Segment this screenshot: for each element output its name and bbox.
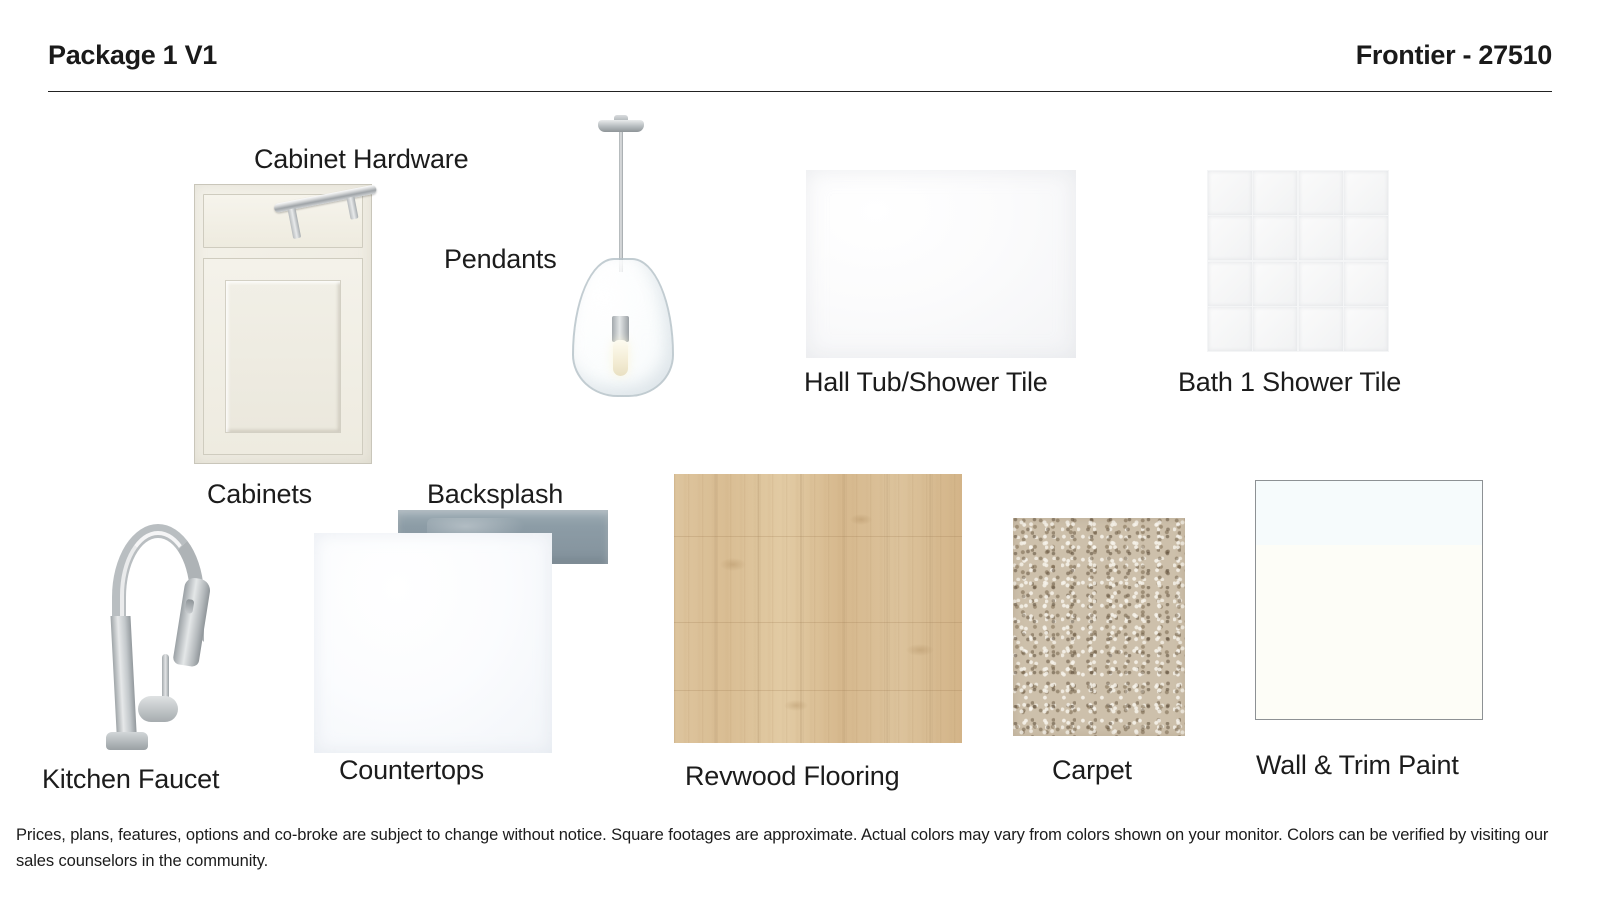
pendant-canopy xyxy=(598,120,644,132)
plank-seam xyxy=(674,622,962,623)
hall-tub-shower-tile-swatch xyxy=(806,170,1076,358)
bar-pull-post-left xyxy=(288,208,302,239)
tile-cell xyxy=(1299,216,1343,260)
wall-paint-chip xyxy=(1256,545,1482,719)
tile-cell xyxy=(1253,307,1297,351)
cabinet-door-panel xyxy=(226,281,340,432)
pendant-rod xyxy=(619,132,623,272)
plank-seam xyxy=(674,690,962,691)
page-header: Package 1 V1 Frontier - 27510 xyxy=(48,38,1552,94)
tile-cell xyxy=(1344,171,1388,215)
tile-cell xyxy=(1299,171,1343,215)
label-backsplash: Backsplash xyxy=(427,478,563,510)
label-cabinets: Cabinets xyxy=(207,478,312,510)
header-divider xyxy=(48,91,1552,92)
carpet-swatch xyxy=(1013,518,1185,736)
pendant-swatch xyxy=(566,120,676,395)
bar-pull-post-right xyxy=(347,197,359,220)
wood-knot xyxy=(906,644,934,656)
label-carpet: Carpet xyxy=(1052,754,1132,786)
tile-cell xyxy=(1299,262,1343,306)
pendant-socket xyxy=(612,316,629,342)
label-kitchen-faucet: Kitchen Faucet xyxy=(42,763,219,795)
label-wall-trim-paint: Wall & Trim Paint xyxy=(1256,749,1459,781)
wood-knot xyxy=(850,514,872,525)
label-hall-tub-shower-tile: Hall Tub/Shower Tile xyxy=(804,366,1048,398)
community-name: Frontier - 27510 xyxy=(1356,38,1552,72)
wood-knot xyxy=(720,558,746,571)
pendant-bulb-icon xyxy=(613,340,628,376)
faucet-handle-hub xyxy=(138,696,178,722)
page-title: Package 1 V1 xyxy=(48,38,217,72)
label-bath-1-shower-tile: Bath 1 Shower Tile xyxy=(1178,366,1401,398)
wall-trim-paint-swatch xyxy=(1255,480,1483,720)
label-pendants: Pendants xyxy=(444,243,557,275)
label-revwood-flooring: Revwood Flooring xyxy=(685,760,899,792)
tile-cell xyxy=(1253,171,1297,215)
tile-cell xyxy=(1344,307,1388,351)
tile-cell xyxy=(1208,262,1252,306)
revwood-flooring-swatch xyxy=(674,474,962,743)
tile-cell xyxy=(1253,216,1297,260)
tile-cell xyxy=(1208,171,1252,215)
countertops-swatch xyxy=(314,533,552,753)
disclaimer-text: Prices, plans, features, options and co-… xyxy=(16,822,1576,874)
tile-cell xyxy=(1208,216,1252,260)
bath-1-shower-tile-swatch xyxy=(1207,170,1389,352)
tile-cell xyxy=(1208,307,1252,351)
trim-paint-chip xyxy=(1256,481,1482,546)
kitchen-faucet-swatch xyxy=(96,520,256,750)
faucet-base xyxy=(106,732,148,750)
wood-knot xyxy=(784,700,808,711)
label-countertops: Countertops xyxy=(339,754,484,786)
cabinet-door-frame xyxy=(203,258,363,455)
tile-cell xyxy=(1344,216,1388,260)
faucet-spray-button xyxy=(184,599,194,614)
tile-cell xyxy=(1253,262,1297,306)
tile-cell xyxy=(1299,307,1343,351)
plank-seam xyxy=(674,536,962,537)
tile-cell xyxy=(1344,262,1388,306)
